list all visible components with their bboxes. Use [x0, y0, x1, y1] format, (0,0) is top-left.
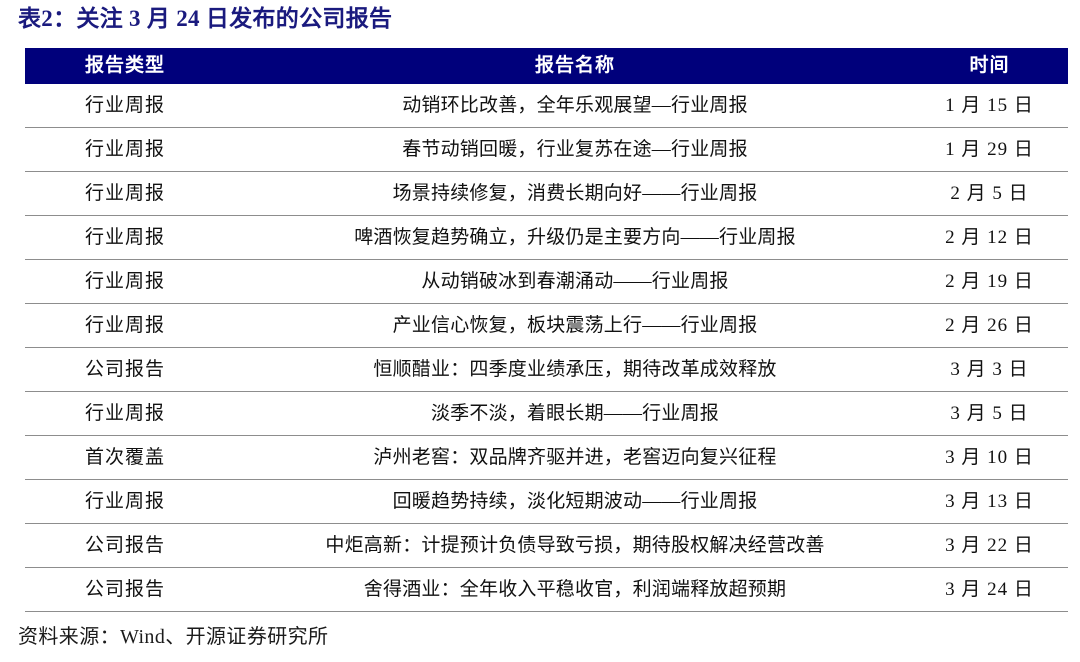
cell-report-name: 恒顺醋业：四季度业绩承压，期待改革成效释放: [225, 348, 925, 392]
cell-report-name: 动销环比改善，全年乐观展望—行业周报: [225, 84, 925, 128]
cell-report-name: 回暖趋势持续，淡化短期波动——行业周报: [225, 480, 925, 524]
table-row: 行业周报春节动销回暖，行业复苏在途—行业周报1 月 29 日: [25, 128, 1068, 172]
report-table: 报告类型 报告名称 时间 行业周报动销环比改善，全年乐观展望—行业周报1 月 1…: [25, 48, 1068, 612]
cell-date: 3 月 3 日: [925, 348, 1068, 392]
cell-report-type: 公司报告: [25, 568, 225, 612]
cell-report-type: 行业周报: [25, 128, 225, 172]
cell-date: 3 月 22 日: [925, 524, 1068, 568]
report-table-page: 表2：关注 3 月 24 日发布的公司报告 报告类型 报告名称 时间 行业周报动…: [0, 0, 1080, 662]
cell-report-type: 行业周报: [25, 480, 225, 524]
table-header-row: 报告类型 报告名称 时间: [25, 48, 1068, 84]
cell-report-type: 首次覆盖: [25, 436, 225, 480]
cell-date: 1 月 15 日: [925, 84, 1068, 128]
cell-date: 2 月 5 日: [925, 172, 1068, 216]
cell-report-name: 从动销破冰到春潮涌动——行业周报: [225, 260, 925, 304]
report-table-container: 报告类型 报告名称 时间 行业周报动销环比改善，全年乐观展望—行业周报1 月 1…: [25, 48, 1068, 612]
cell-report-name: 产业信心恢复，板块震荡上行——行业周报: [225, 304, 925, 348]
table-header: 报告类型 报告名称 时间: [25, 48, 1068, 84]
table-row: 公司报告中炬高新：计提预计负债导致亏损，期待股权解决经营改善3 月 22 日: [25, 524, 1068, 568]
table-row: 行业周报啤酒恢复趋势确立，升级仍是主要方向——行业周报2 月 12 日: [25, 216, 1068, 260]
table-row: 公司报告恒顺醋业：四季度业绩承压，期待改革成效释放3 月 3 日: [25, 348, 1068, 392]
cell-date: 3 月 24 日: [925, 568, 1068, 612]
cell-date: 2 月 26 日: [925, 304, 1068, 348]
column-header-report-type: 报告类型: [25, 48, 225, 84]
cell-report-type: 公司报告: [25, 348, 225, 392]
table-row: 行业周报产业信心恢复，板块震荡上行——行业周报2 月 26 日: [25, 304, 1068, 348]
cell-report-name: 泸州老窖：双品牌齐驱并进，老窖迈向复兴征程: [225, 436, 925, 480]
cell-date: 3 月 5 日: [925, 392, 1068, 436]
cell-report-type: 公司报告: [25, 524, 225, 568]
table-row: 行业周报从动销破冰到春潮涌动——行业周报2 月 19 日: [25, 260, 1068, 304]
table-body: 行业周报动销环比改善，全年乐观展望—行业周报1 月 15 日行业周报春节动销回暖…: [25, 84, 1068, 612]
cell-date: 3 月 10 日: [925, 436, 1068, 480]
table-row: 行业周报淡季不淡，着眼长期——行业周报3 月 5 日: [25, 392, 1068, 436]
cell-date: 2 月 12 日: [925, 216, 1068, 260]
page-title: 表2：关注 3 月 24 日发布的公司报告: [18, 4, 1062, 34]
cell-report-name: 淡季不淡，着眼长期——行业周报: [225, 392, 925, 436]
cell-report-name: 场景持续修复，消费长期向好——行业周报: [225, 172, 925, 216]
cell-report-name: 啤酒恢复趋势确立，升级仍是主要方向——行业周报: [225, 216, 925, 260]
cell-date: 2 月 19 日: [925, 260, 1068, 304]
cell-report-type: 行业周报: [25, 304, 225, 348]
cell-report-type: 行业周报: [25, 172, 225, 216]
cell-report-type: 行业周报: [25, 216, 225, 260]
column-header-report-name: 报告名称: [225, 48, 925, 84]
cell-date: 1 月 29 日: [925, 128, 1068, 172]
table-row: 首次覆盖泸州老窖：双品牌齐驱并进，老窖迈向复兴征程3 月 10 日: [25, 436, 1068, 480]
table-row: 公司报告舍得酒业：全年收入平稳收官，利润端释放超预期3 月 24 日: [25, 568, 1068, 612]
cell-report-name: 舍得酒业：全年收入平稳收官，利润端释放超预期: [225, 568, 925, 612]
table-row: 行业周报回暖趋势持续，淡化短期波动——行业周报3 月 13 日: [25, 480, 1068, 524]
source-note: 资料来源：Wind、开源证券研究所: [18, 622, 328, 652]
table-row: 行业周报动销环比改善，全年乐观展望—行业周报1 月 15 日: [25, 84, 1068, 128]
table-row: 行业周报场景持续修复，消费长期向好——行业周报2 月 5 日: [25, 172, 1068, 216]
cell-report-name: 中炬高新：计提预计负债导致亏损，期待股权解决经营改善: [225, 524, 925, 568]
cell-report-name: 春节动销回暖，行业复苏在途—行业周报: [225, 128, 925, 172]
cell-date: 3 月 13 日: [925, 480, 1068, 524]
column-header-date: 时间: [925, 48, 1068, 84]
cell-report-type: 行业周报: [25, 392, 225, 436]
cell-report-type: 行业周报: [25, 84, 225, 128]
cell-report-type: 行业周报: [25, 260, 225, 304]
